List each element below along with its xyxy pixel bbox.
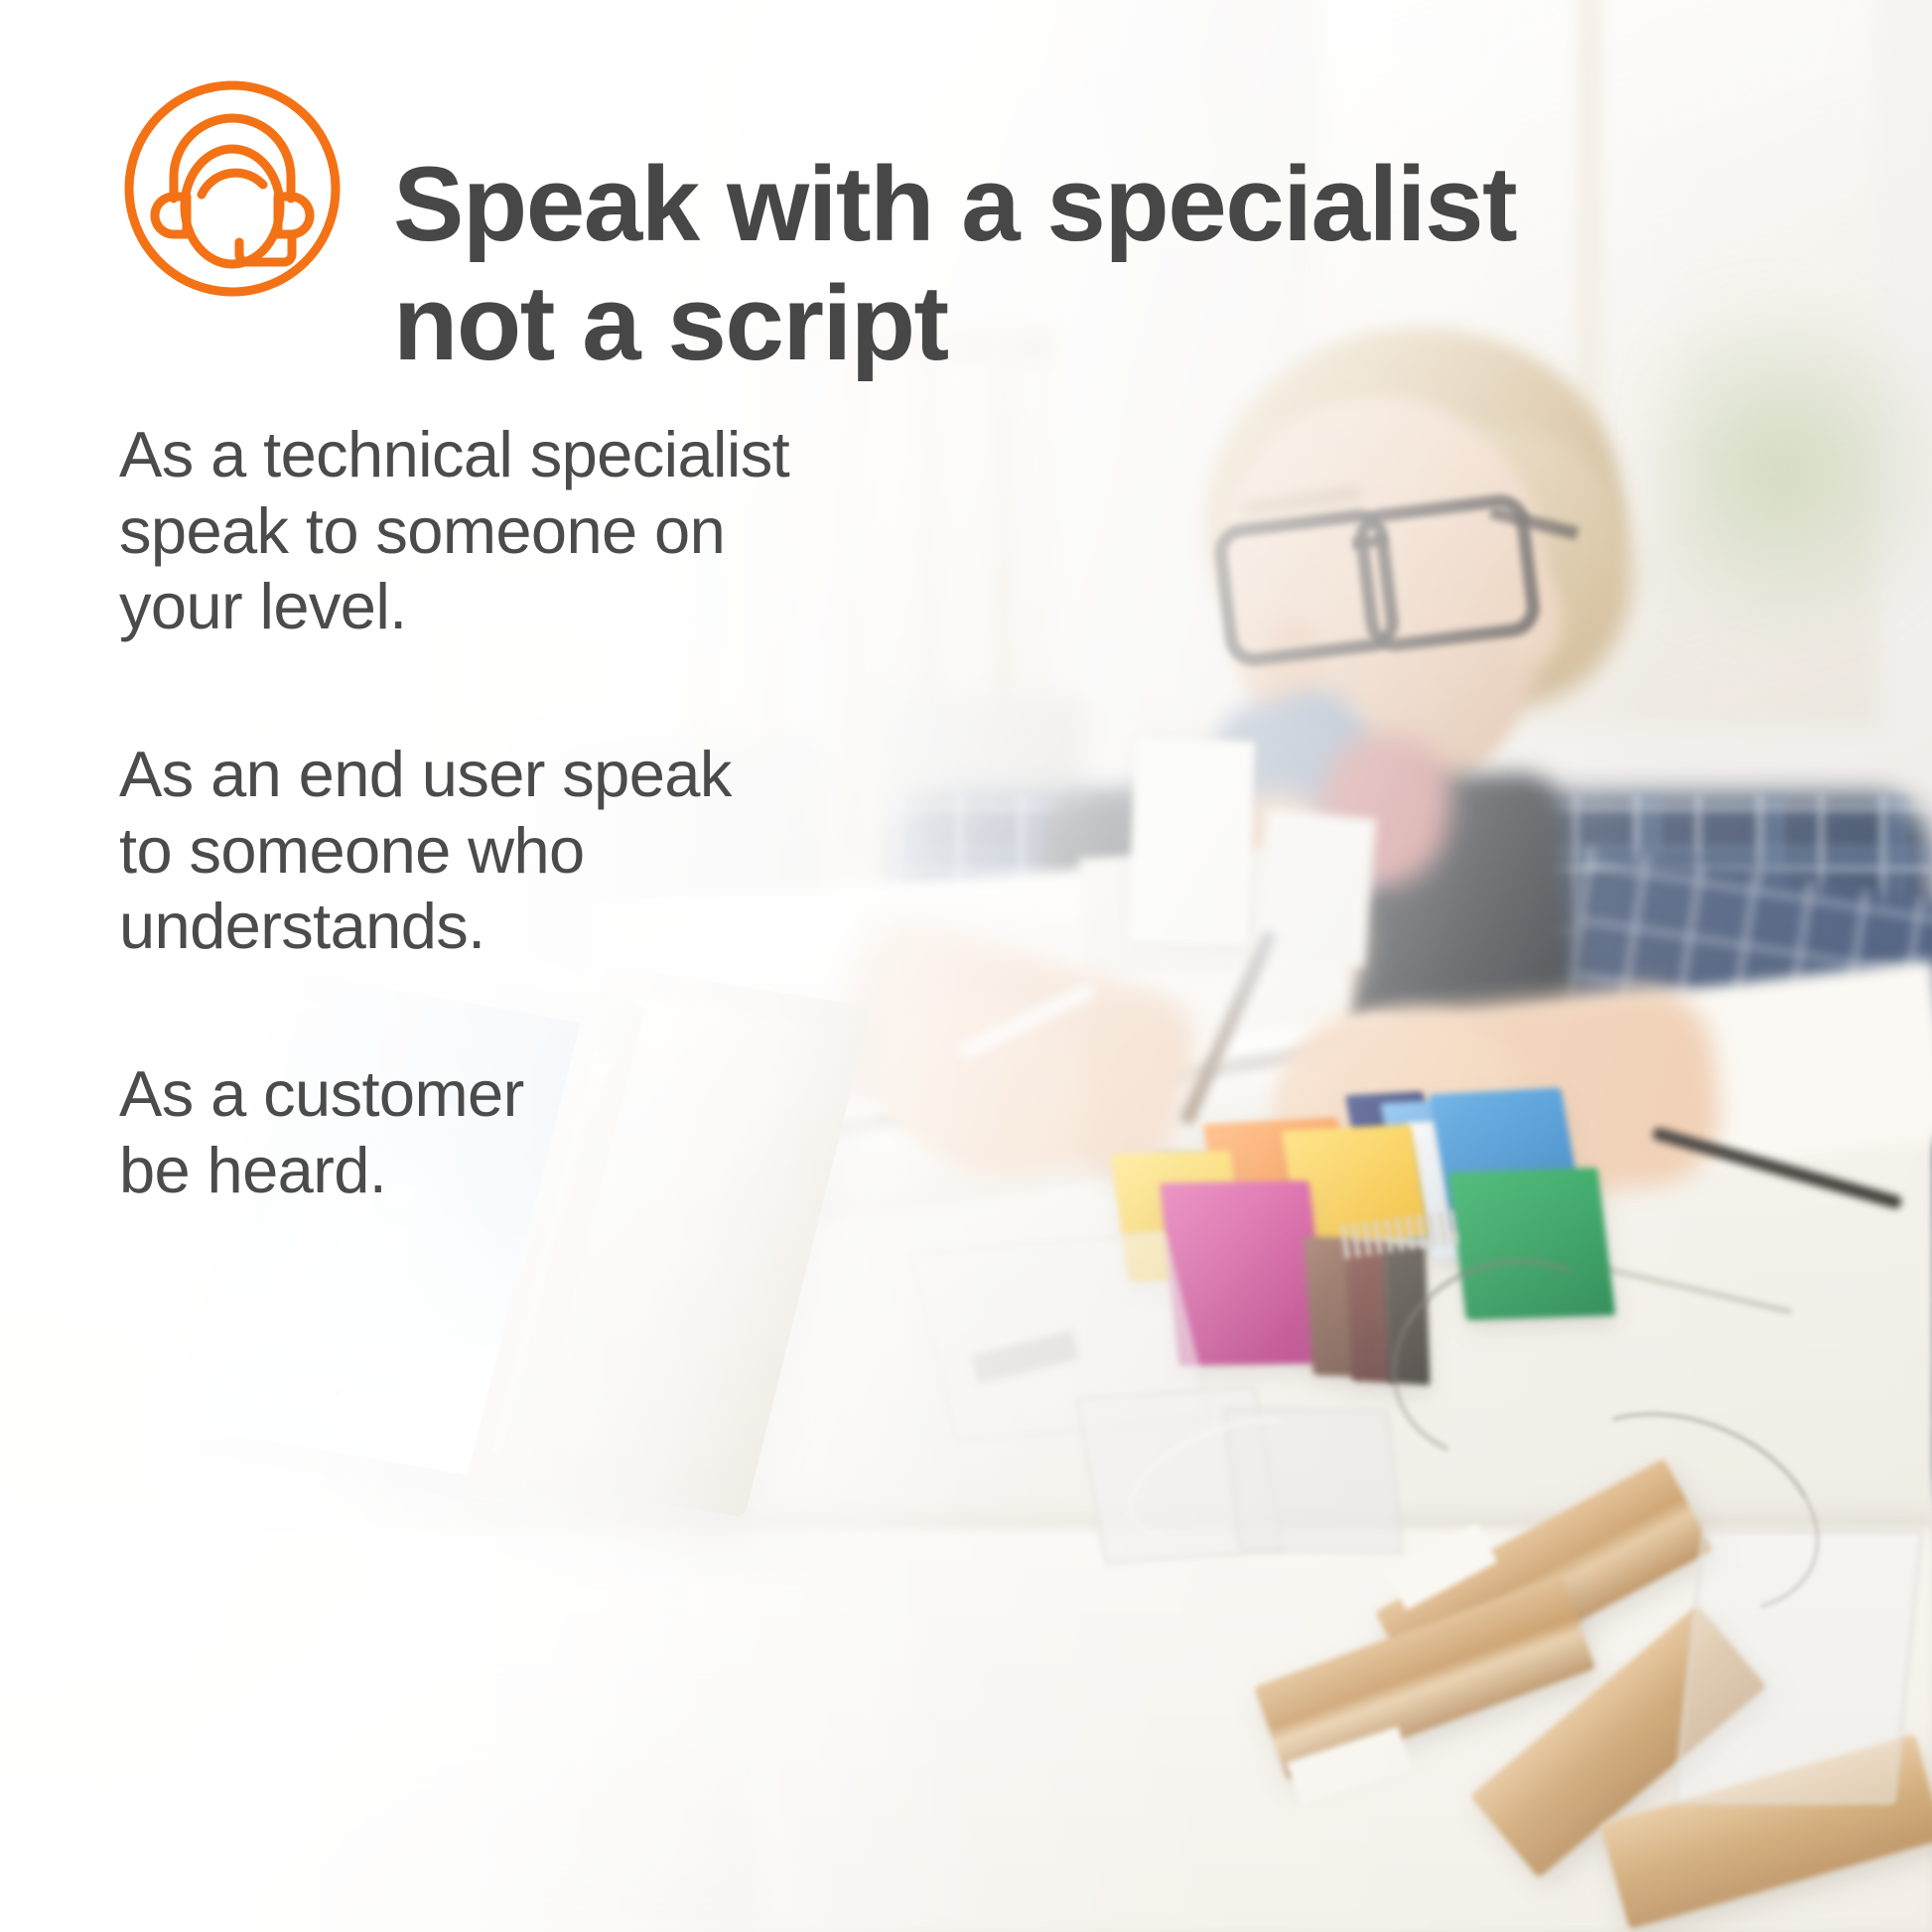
- paragraph-line: be heard.: [119, 1133, 903, 1209]
- promo-graphic: Speak with a specialist not a script As …: [0, 0, 1932, 1932]
- paragraph-customer: As a customer be heard.: [119, 1056, 903, 1208]
- headline-line-2: not a script: [393, 264, 1516, 383]
- paragraph-technical-specialist: As a technical specialist speak to someo…: [119, 417, 903, 645]
- header: Speak with a specialist not a script: [117, 73, 1516, 454]
- paragraph-end-user: As an end user speak to someone who unde…: [119, 737, 903, 965]
- paragraph-line: As an end user speak: [119, 737, 903, 813]
- paragraph-line: understands.: [119, 889, 903, 965]
- body-copy: As a technical specialist speak to someo…: [119, 417, 903, 1209]
- paragraph-line: your level.: [119, 569, 903, 645]
- headset-support-icon: [117, 73, 347, 304]
- paragraph-line: speak to someone on: [119, 493, 903, 570]
- page-title: Speak with a specialist not a script: [393, 145, 1516, 383]
- paragraph-line: to someone who: [119, 813, 903, 890]
- headline-line-1: Speak with a specialist: [393, 145, 1516, 264]
- paragraph-line: As a customer: [119, 1056, 903, 1133]
- paragraph-line: As a technical specialist: [119, 417, 903, 493]
